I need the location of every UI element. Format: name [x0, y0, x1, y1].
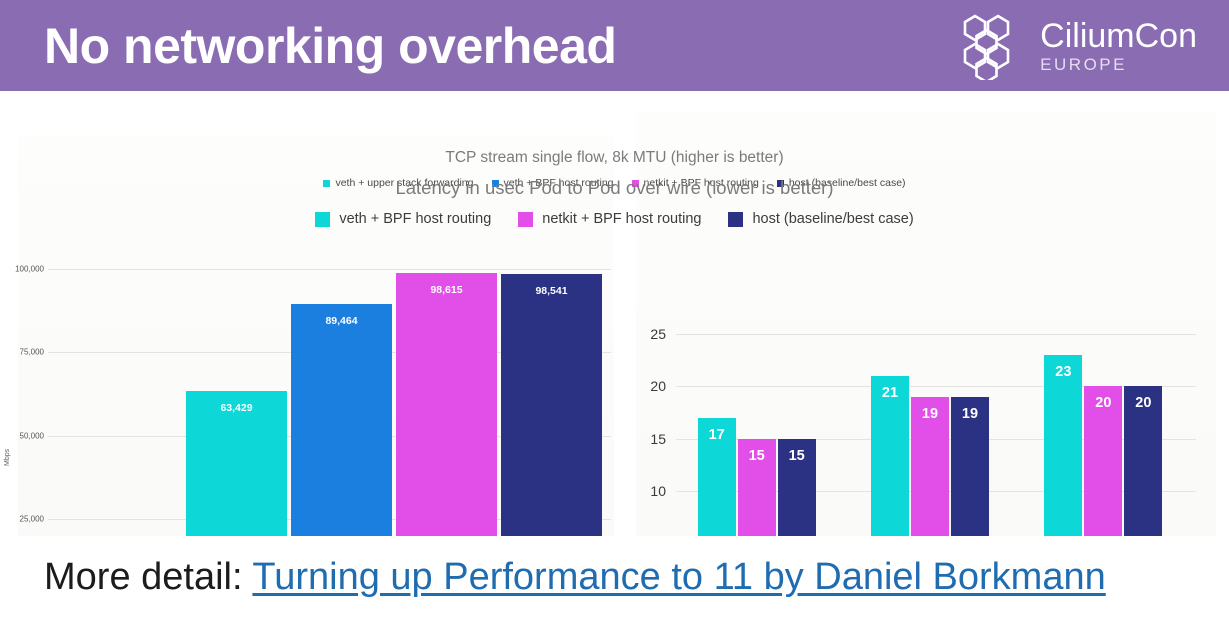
bar-value-label: 98,615: [396, 284, 497, 296]
legend-swatch-icon: [728, 212, 743, 227]
y-axis-tick-label: 20: [638, 378, 666, 394]
legend-label: host (baseline/best case): [752, 211, 913, 227]
y-axis-tick-label: 75,000: [2, 348, 44, 357]
bar-value-label: 20: [1124, 395, 1162, 411]
bar-value-label: 89,464: [291, 315, 392, 327]
page-title: No networking overhead: [44, 21, 616, 71]
hexagon-cluster-icon: [958, 12, 1028, 80]
chart-title-tcp-throughput: TCP stream single flow, 8k MTU (higher i…: [0, 149, 1229, 167]
bar-value-label: 17: [698, 427, 736, 443]
y-axis-tick-label: 25: [638, 326, 666, 342]
logo-subtitle: EUROPE: [1040, 56, 1197, 73]
legend-latency-item: host (baseline/best case): [728, 211, 913, 227]
bar-value-label: 19: [951, 406, 989, 422]
bar-value-label: 20: [1084, 395, 1122, 411]
gridline: [48, 269, 611, 270]
performance-talk-link[interactable]: Turning up Performance to 11 by Daniel B…: [252, 556, 1105, 598]
bar-value-label: 23: [1044, 364, 1082, 380]
y-axis-tick-label: 10: [638, 483, 666, 499]
legend-label: veth + BPF host routing: [339, 211, 491, 227]
bar-value-label: 15: [778, 448, 816, 464]
logo-name: CiliumCon: [1040, 19, 1197, 53]
slide: No networking overhead CiliumCon EUROPE …: [0, 0, 1229, 619]
chart-legend-latency: veth + BPF host routingnetkit + BPF host…: [0, 211, 1229, 227]
bar-value-label: 19: [911, 406, 949, 422]
legend-latency-item: netkit + BPF host routing: [518, 211, 701, 227]
legend-swatch-icon: [315, 212, 330, 227]
bar-value-label: 98,541: [501, 285, 602, 297]
legend-label: netkit + BPF host routing: [542, 211, 701, 227]
more-detail-text: More detail: Turning up Performance to 1…: [44, 556, 1106, 599]
bar-value-label: 63,429: [186, 402, 287, 414]
legend-latency-item: veth + BPF host routing: [315, 211, 491, 227]
bar-value-label: 15: [738, 448, 776, 464]
y-axis-label-tcp-throughput: Mbps: [4, 449, 11, 466]
bar-value-label: 21: [871, 385, 909, 401]
legend-swatch-icon: [518, 212, 533, 227]
more-detail-prefix: More detail:: [44, 556, 252, 598]
slide-footer: More detail: Turning up Performance to 1…: [0, 536, 1229, 619]
y-axis-tick-label: 50,000: [2, 431, 44, 440]
y-axis-tick-label: 25,000: [2, 515, 44, 524]
y-axis-tick-label: 100,000: [2, 264, 44, 273]
logo-wordmark: CiliumCon EUROPE: [1040, 19, 1197, 73]
y-axis-tick-label: 15: [638, 431, 666, 447]
slide-header: No networking overhead CiliumCon EUROPE: [0, 0, 1229, 91]
ciliumcon-logo: CiliumCon EUROPE: [958, 12, 1197, 80]
charts-area: TCP stream single flow, 8k MTU (higher i…: [0, 91, 1229, 536]
chart-title-latency: Latency in usec Pod to Pod over wire (lo…: [0, 177, 1229, 199]
gridline: [676, 334, 1196, 335]
